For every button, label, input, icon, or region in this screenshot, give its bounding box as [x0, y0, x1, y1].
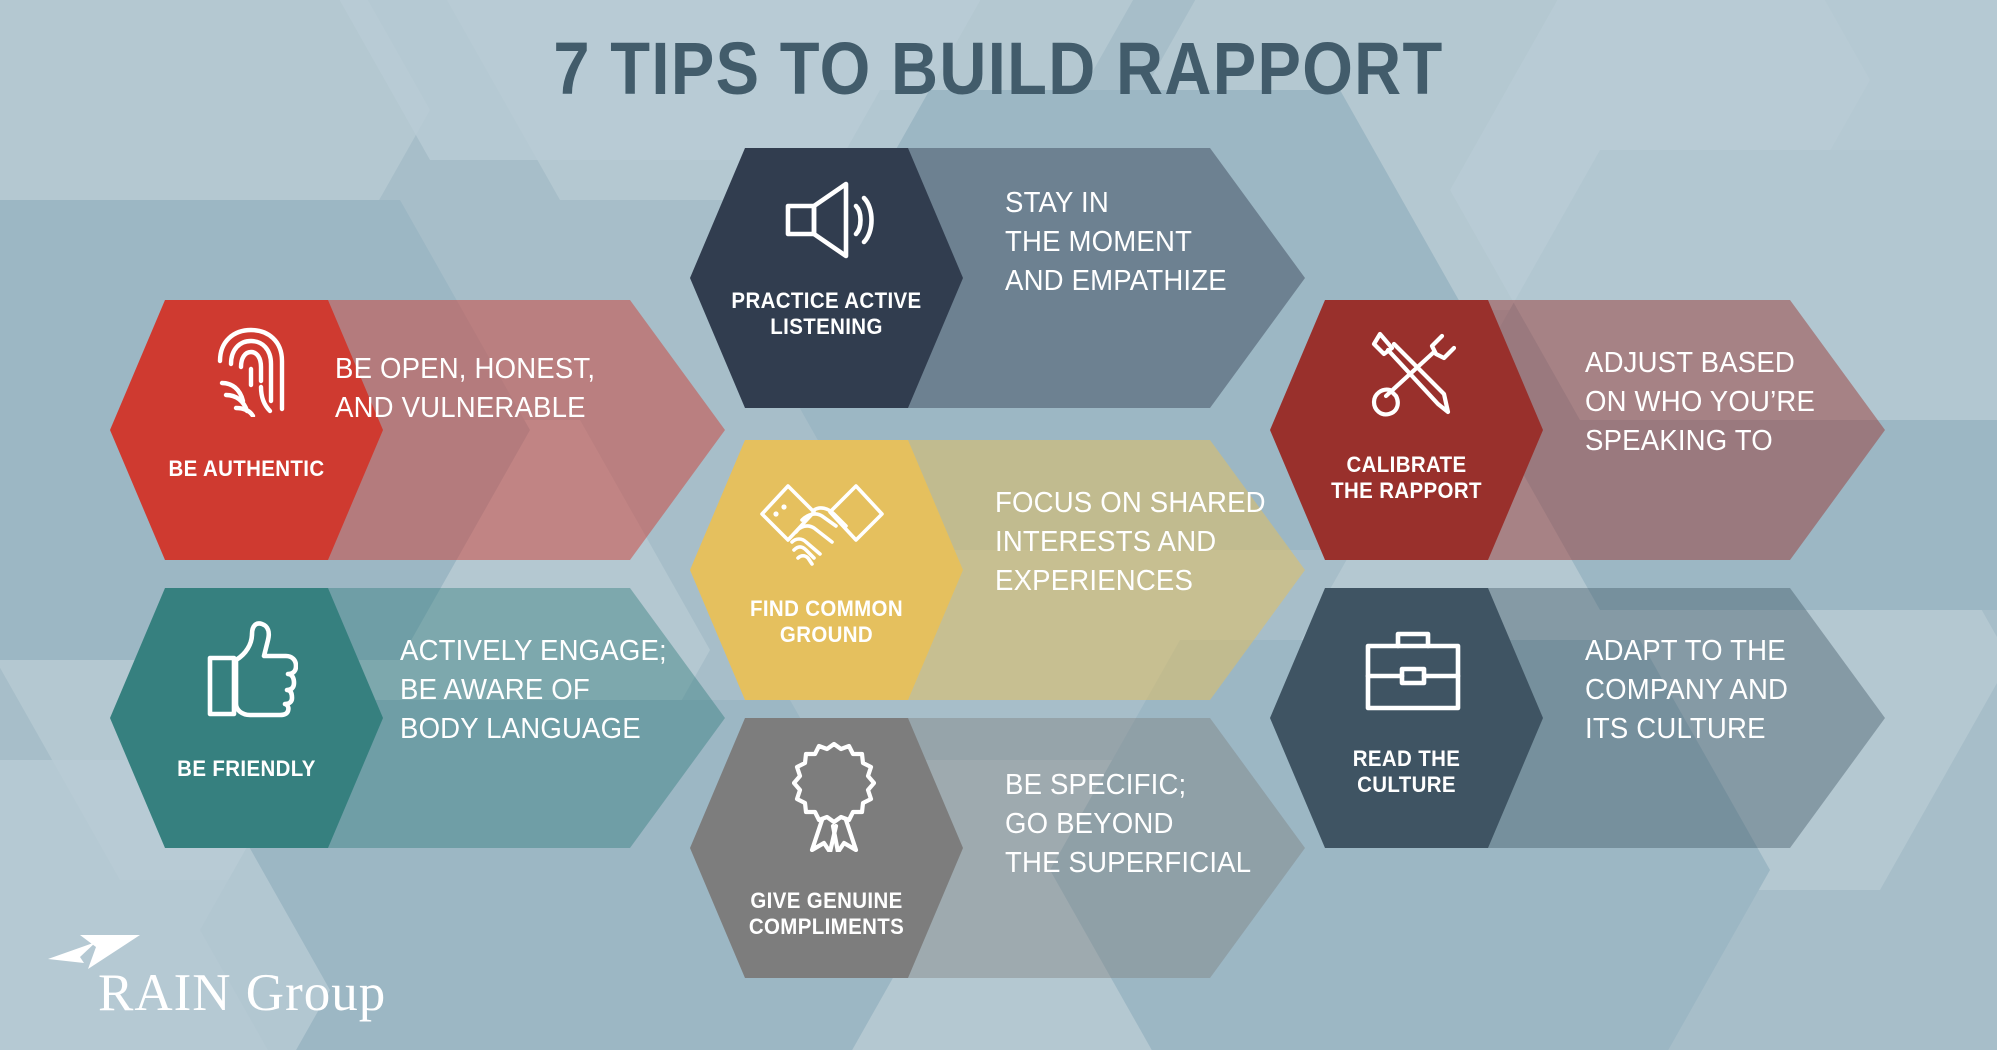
rain-group-logo[interactable]: RAIN Group	[44, 929, 386, 1020]
handshake-icon	[758, 476, 886, 572]
briefcase-icon	[1364, 628, 1462, 712]
tip-be-authentic[interactable]: BE AUTHENTIC BE OPEN, HONEST, AND VULNER…	[100, 300, 740, 560]
infographic-canvas: 7 TIPS TO BUILD RAPPORT BE AUTHENTIC BE …	[0, 0, 1997, 1050]
tip-give-genuine-compliments[interactable]: GIVE GENUINE COMPLIMENTS BE SPECIFIC; GO…	[680, 718, 1320, 978]
tip-label-give-genuine-compliments: GIVE GENUINE COMPLIMENTS	[696, 888, 957, 940]
tip-read-the-culture[interactable]: READ THE CULTURE ADAPT TO THE COMPANY AN…	[1260, 588, 1900, 848]
tools-icon	[1364, 328, 1456, 420]
tip-calibrate-the-rapport[interactable]: CALIBRATE THE RAPPORT ADJUST BASED ON WH…	[1260, 300, 1900, 560]
tip-description-be-authentic: BE OPEN, HONEST, AND VULNERABLE	[335, 350, 715, 428]
award-ribbon-icon	[792, 740, 876, 852]
logo-arrows-icon	[44, 929, 204, 971]
fingerprint-icon	[210, 325, 292, 417]
page-title: 7 TIPS TO BUILD RAPPORT	[120, 26, 1877, 111]
tip-description-give-genuine-compliments: BE SPECIFIC; GO BEYOND THE SUPERFICIAL	[1005, 766, 1328, 883]
tip-label-practice-active-listening: PRACTICE ACTIVE LISTENING	[696, 288, 957, 340]
thumbs-up-icon	[206, 620, 298, 718]
tip-label-be-authentic: BE AUTHENTIC	[120, 456, 374, 482]
tip-be-friendly[interactable]: BE FRIENDLY ACTIVELY ENGAGE; BE AWARE OF…	[100, 588, 740, 848]
tip-practice-active-listening[interactable]: PRACTICE ACTIVE LISTENING STAY IN THE MO…	[680, 148, 1320, 408]
tile-shape-be-authentic	[100, 300, 740, 560]
tip-description-read-the-culture: ADAPT TO THE COMPANY AND ITS CULTURE	[1585, 632, 1899, 749]
tip-description-find-common-ground: FOCUS ON SHARED INTERESTS AND EXPERIENCE…	[995, 484, 1328, 601]
tip-label-find-common-ground: FIND COMMON GROUND	[696, 596, 957, 648]
tip-description-practice-active-listening: STAY IN THE MOMENT AND EMPATHIZE	[1005, 184, 1300, 301]
rain-arrows-mark	[44, 929, 204, 971]
megaphone-icon	[784, 178, 880, 262]
tip-find-common-ground[interactable]: FIND COMMON GROUND FOCUS ON SHARED INTER…	[680, 440, 1320, 700]
logo-text: RAIN Group	[98, 967, 386, 1020]
tip-description-calibrate-the-rapport: ADJUST BASED ON WHO YOU’RE SPEAKING TO	[1585, 344, 1908, 461]
tip-label-be-friendly: BE FRIENDLY	[116, 756, 377, 782]
